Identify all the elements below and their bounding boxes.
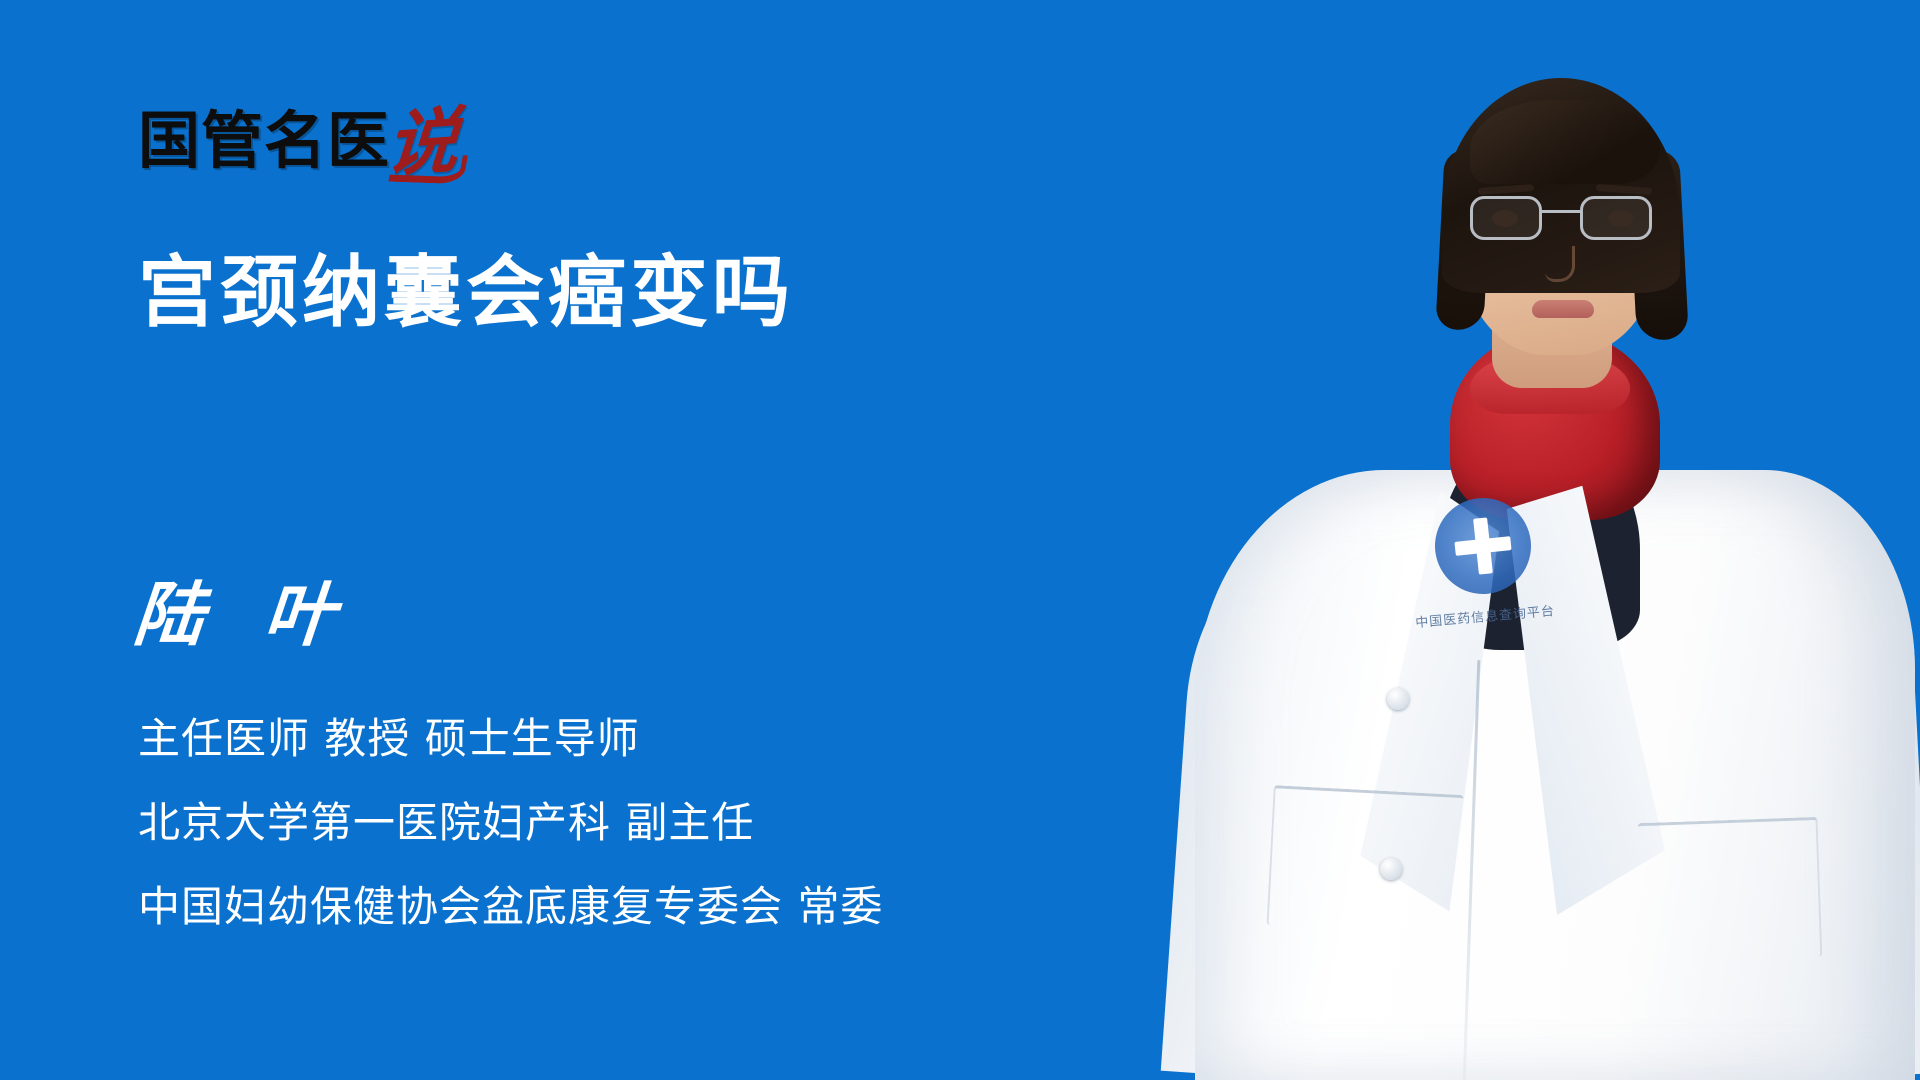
brand-logo-accent-text: 说	[384, 109, 461, 176]
brand-logo-main-text: 国管名医	[138, 110, 390, 172]
coat-pocket-left	[1266, 785, 1463, 935]
doctor-portrait-photo: 中国医药信息查询平台	[1140, 0, 1920, 1080]
credential-line: 主任医师 教授 硕士生导师	[138, 715, 883, 763]
video-cover-slide: 国管名医 说 宫颈纳囊会癌变吗 陆 叶 主任医师 教授 硕士生导师 北京大学第一…	[0, 0, 1920, 1080]
eyeglass-lens-left	[1470, 196, 1542, 240]
coat-button	[1380, 858, 1402, 880]
page-title: 宫颈纳囊会癌变吗	[138, 248, 794, 338]
credential-line: 中国妇幼保健协会盆底康复专委会 常委	[138, 883, 883, 931]
eyeglass-bridge	[1542, 210, 1580, 213]
brand-logo: 国管名医 说	[138, 96, 456, 172]
credential-line: 北京大学第一医院妇产科 副主任	[138, 799, 883, 847]
eyeglasses	[1470, 196, 1652, 242]
hair-fringe	[1470, 100, 1660, 184]
eyeglass-lens-right	[1580, 196, 1652, 240]
mouth	[1532, 300, 1594, 318]
medical-cross-emblem-icon	[1430, 493, 1536, 599]
nose	[1545, 246, 1575, 282]
doctor-credentials: 主任医师 教授 硕士生导师 北京大学第一医院妇产科 副主任 中国妇幼保健协会盆底…	[138, 715, 883, 931]
doctor-name: 陆 叶	[131, 576, 356, 654]
coat-button	[1387, 688, 1409, 710]
coat-pocket-right	[1638, 817, 1823, 963]
